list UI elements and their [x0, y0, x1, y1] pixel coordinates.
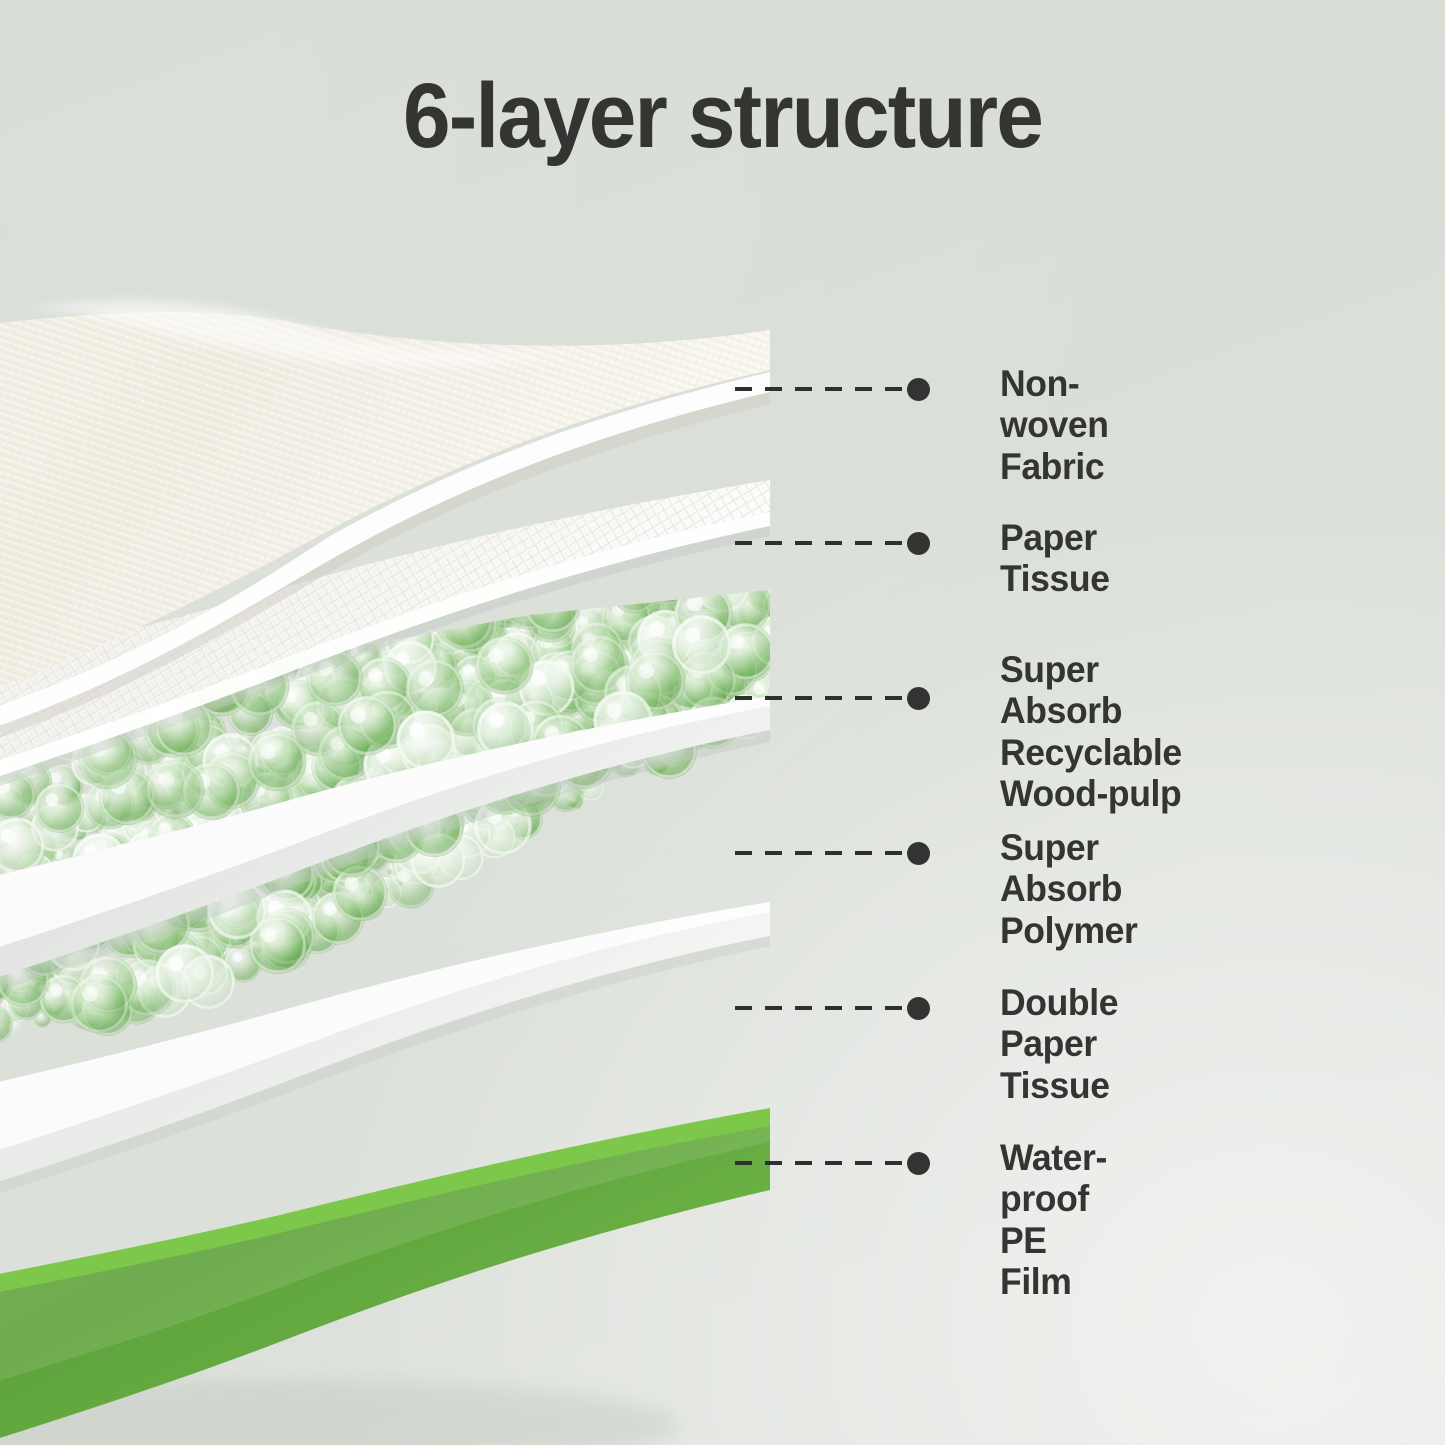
leader-line — [735, 387, 915, 391]
layer-stack-illustration — [0, 230, 870, 1445]
leader-line — [735, 851, 915, 855]
page-title: 6-layer structure — [51, 70, 1395, 162]
leader-line — [735, 696, 915, 700]
leader-dot — [907, 997, 930, 1020]
leader-line — [735, 541, 915, 545]
leader-dot — [907, 842, 930, 865]
infographic-canvas: 6-layer structure — [0, 0, 1445, 1445]
callout-label: Super Absorb Polymer — [1000, 827, 1137, 951]
callout-label: Double Paper Tissue — [1000, 982, 1118, 1106]
leader-dot — [907, 378, 930, 401]
leader-line — [735, 1161, 915, 1165]
layer-waterproof-pe-film — [0, 1108, 770, 1445]
leader-dot — [907, 1152, 930, 1175]
callout-label: Non-woven Fabric — [1000, 363, 1109, 487]
callout-label: Super Absorb Recyclable Wood-pulp — [1000, 649, 1182, 815]
leader-dot — [907, 532, 930, 555]
callout-label: Paper Tissue — [1000, 517, 1110, 600]
leader-dot — [907, 687, 930, 710]
callout-label: Water-proof PE Film — [1000, 1137, 1107, 1303]
leader-line — [735, 1006, 915, 1010]
